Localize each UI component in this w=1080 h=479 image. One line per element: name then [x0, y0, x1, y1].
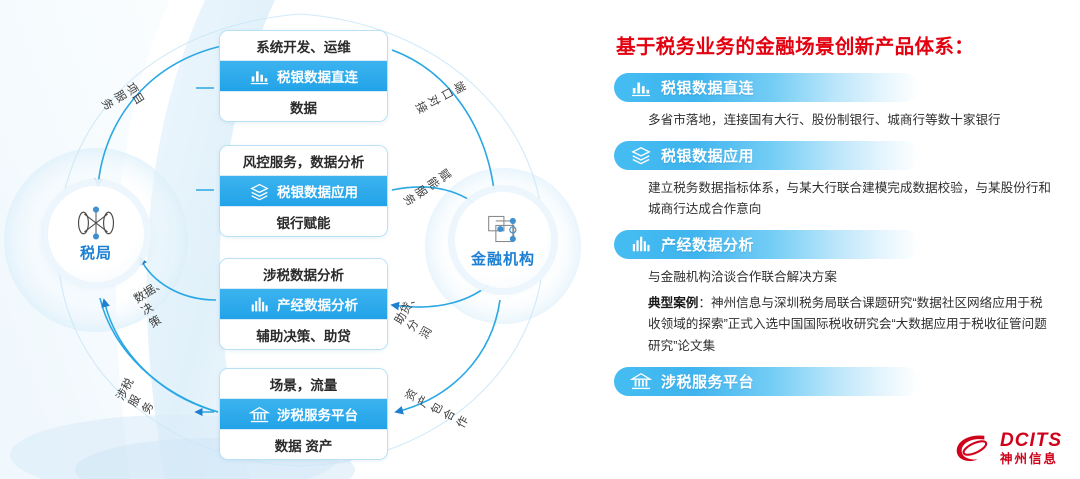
card-highlight-label: 产经数据分析: [277, 294, 358, 314]
card-highlight-row[interactable]: 涉税服务平台: [220, 399, 387, 429]
card-highlight-label: 税银数据应用: [277, 181, 358, 201]
section-header-pill[interactable]: 税银数据应用: [614, 141, 919, 170]
bar-chart-icon: [249, 67, 270, 86]
section-heading: 税银数据直连: [661, 77, 754, 98]
card-top-label: 风控服务，数据分析: [220, 146, 387, 176]
case-study-body: ：神州信息与深圳税务局联合课题研究“数据社区网络应用于税收领域的探索”正式入选中…: [648, 296, 1047, 353]
card-highlight-row[interactable]: 产经数据分析: [220, 289, 387, 319]
section-heading: 涉税服务平台: [661, 371, 754, 392]
cycle-diagram: 税局 金融机构 系统开发、运维: [0, 0, 600, 479]
card-tax-bank-direct-connect[interactable]: 系统开发、运维 税银数据直连 数据: [219, 30, 388, 122]
product-system-panel: 基于税务业务的金融场景创新产品体系： 税银数据直连 多省市落地，连接国有大行、股…: [600, 0, 1080, 479]
node-tax-bureau[interactable]: 税局: [48, 186, 144, 282]
flow-label-tax-service: 涉税服 务: [114, 366, 168, 416]
section-header-pill[interactable]: 涉税服务平台: [614, 367, 919, 396]
card-top-label: 涉税数据分析: [220, 259, 387, 289]
section-paragraph: 建立税务数据指标体系，与某大行联合建模完成数据校验，与某股份行和城商行达成合作意…: [648, 178, 1053, 221]
section-heading: 产经数据分析: [661, 234, 754, 255]
card-top-label: 场景，流量: [220, 369, 387, 399]
bar-chart-icon: [630, 78, 652, 98]
section-tax-bank-direct-connect: 税银数据直连 多省市落地，连接国有大行、股份制银行、城商行等数十家银行: [614, 73, 1056, 132]
card-tax-bank-data-application[interactable]: 风控服务，数据分析 税银数据应用 银行赋能: [219, 145, 388, 237]
dcits-swirl-icon: [952, 431, 994, 465]
section-tax-service-platform: 涉税服务平台: [614, 367, 1056, 396]
flow-label-empower-service: 赋能服务: [399, 167, 456, 215]
flow-label-port-docking: 端口对接: [411, 79, 470, 122]
section-paragraph: 与金融机构洽谈合作联合解决方案: [648, 267, 1053, 289]
flow-label-data-decision: 数据、决 策: [132, 274, 189, 332]
panel-title: 基于税务业务的金融场景创新产品体系：: [616, 30, 1056, 59]
card-bottom-label: 银行赋能: [220, 206, 387, 236]
logo-wordmark: DCITS 神州信息: [1000, 431, 1062, 466]
section-header-pill[interactable]: 产经数据分析: [614, 230, 919, 259]
bars-icon: [630, 234, 652, 254]
slide-root: 税局 金融机构 系统开发、运维: [0, 0, 1080, 479]
logo-name: DCITS: [1000, 431, 1062, 450]
layers-icon: [249, 182, 270, 201]
case-study-lead: 典型案例: [648, 296, 698, 310]
section-industry-data-analysis: 产经数据分析 与金融机构洽谈合作联合解决方案 典型案例：神州信息与深圳税务局联合…: [614, 230, 1056, 358]
flow-label-project-service: 项目服 务: [98, 81, 153, 133]
card-bottom-label: 数据: [220, 91, 387, 121]
card-bottom-label: 数据 资产: [220, 429, 387, 459]
card-highlight-row[interactable]: 税银数据应用: [220, 176, 387, 206]
section-paragraph: 多省市落地，连接国有大行、股份制银行、城商行等数十家银行: [648, 110, 1053, 132]
card-bottom-label: 辅助决策、助贷: [220, 319, 387, 349]
section-tax-bank-data-application: 税银数据应用 建立税务数据指标体系，与某大行联合建模完成数据校验，与某股份行和城…: [614, 141, 1056, 221]
card-highlight-label: 税银数据直连: [277, 66, 358, 86]
node-financial-institution[interactable]: 金融机构: [455, 192, 551, 288]
bank-building-icon: [249, 405, 270, 424]
company-logo: DCITS 神州信息: [952, 431, 1062, 466]
card-highlight-row[interactable]: 税银数据直连: [220, 61, 387, 91]
node-financial-institution-label: 金融机构: [471, 248, 535, 269]
section-case-study: 典型案例：神州信息与深圳税务局联合课题研究“数据社区网络应用于税收领域的探索”正…: [648, 293, 1053, 358]
layers-icon: [630, 145, 652, 165]
card-highlight-label: 涉税服务平台: [277, 404, 358, 424]
node-tax-bureau-label: 税局: [80, 242, 112, 263]
institution-network-icon: [483, 212, 523, 246]
section-heading: 税银数据应用: [661, 145, 754, 166]
card-industry-data-analysis[interactable]: 涉税数据分析 产经数据分析 辅助决策、助贷: [219, 258, 388, 350]
card-tax-service-platform[interactable]: 场景，流量 涉税服务平台 数据 资产: [219, 368, 388, 460]
bars-icon: [249, 295, 270, 314]
bank-building-icon: [630, 371, 652, 391]
flow-label-asset-package: 资产包合作: [403, 381, 475, 431]
section-header-pill[interactable]: 税银数据直连: [614, 73, 919, 102]
flow-label-loan-profit-share: 助贷、分 润: [392, 285, 449, 341]
logo-name-cn: 神州信息: [1000, 453, 1062, 466]
card-top-label: 系统开发、运维: [220, 31, 387, 61]
network-nodes-icon: [76, 206, 116, 240]
